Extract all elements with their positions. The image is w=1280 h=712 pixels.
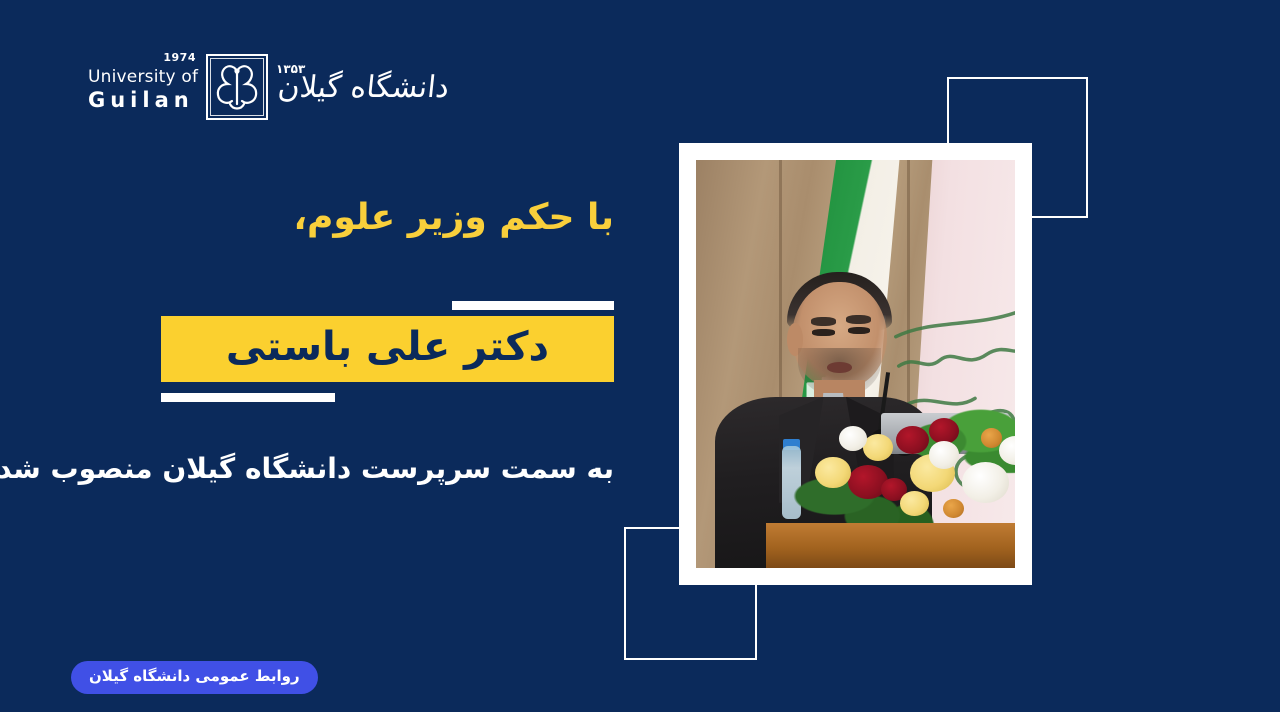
person-eye-right [848, 327, 870, 334]
emblem-dot-icon [234, 68, 239, 73]
logo-english-line2: Guilan [88, 89, 192, 111]
public-relations-badge: روابط عمومی دانشگاه گیلان [71, 661, 318, 694]
university-logo: 1974 University of Guilan ۱۳۵۳ دانشگاه گ… [88, 48, 408, 126]
portrait-photo-frame [679, 143, 1032, 585]
flower-white [929, 441, 960, 468]
emblem-motif-icon [212, 60, 262, 114]
flower-yellow [815, 457, 850, 488]
logo-persian-wordmark: ۱۳۵۳ دانشگاه گیلان [278, 54, 449, 120]
flower-yellow [900, 491, 928, 516]
portrait-photo [696, 160, 1015, 568]
flower-yellow [863, 434, 894, 461]
announcement-poster: 1974 University of Guilan ۱۳۵۳ دانشگاه گ… [0, 0, 1280, 712]
logo-year-gregorian: 1974 [163, 52, 196, 64]
public-relations-label: روابط عمومی دانشگاه گیلان [89, 669, 300, 686]
person-name: دکتر علی باستی [226, 327, 549, 371]
person-eye-left [812, 329, 834, 336]
flower-red [896, 426, 929, 455]
dash-top [452, 301, 614, 310]
logo-english-wordmark: 1974 University of Guilan [88, 63, 192, 111]
person-brow-left [811, 317, 837, 326]
flower-bouquet [792, 405, 1015, 536]
flower-orange [981, 428, 1002, 448]
headline-subline: به سمت سرپرست دانشگاه گیلان منصوب شد [54, 451, 614, 486]
flower-white [839, 426, 867, 451]
flower-white [962, 462, 1009, 502]
guilan-emblem-icon [206, 54, 268, 120]
wooden-podium [766, 523, 1015, 568]
flower-red [929, 418, 960, 444]
logo-persian-name: دانشگاه گیلان [276, 70, 451, 105]
headline-kicker: با حکم وزیر علوم، [54, 196, 614, 239]
dash-bottom [161, 393, 335, 402]
logo-english-line1: University of [88, 69, 192, 87]
person-mouth [827, 362, 853, 373]
person-brow-right [846, 315, 872, 324]
name-banner: دکتر علی باستی [161, 316, 614, 382]
